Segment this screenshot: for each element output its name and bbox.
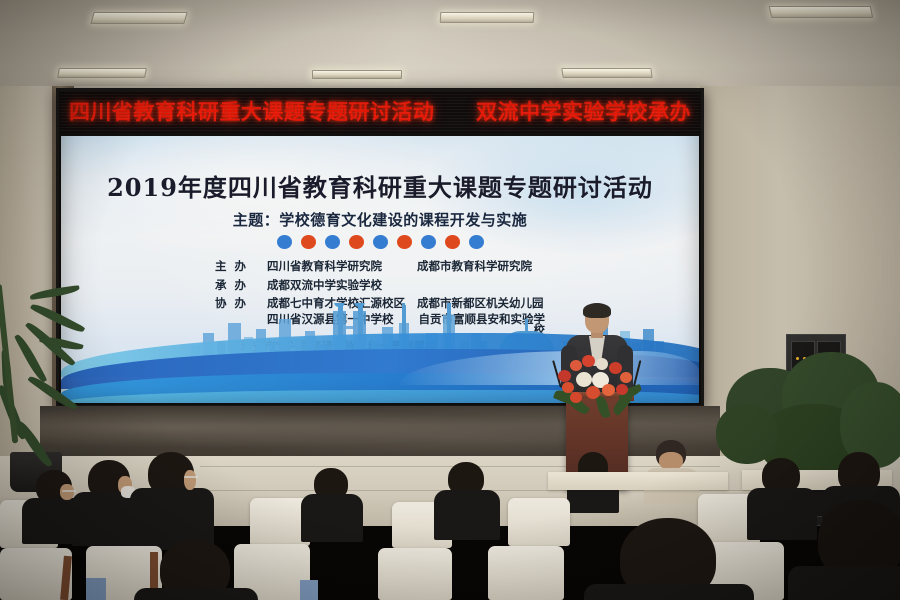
- slide-dot: [373, 235, 388, 249]
- ceiling-light-5: [312, 70, 402, 79]
- flower-bloom: [609, 362, 622, 374]
- slide-dot: [325, 235, 340, 249]
- flower-arrangement: [552, 352, 644, 414]
- organizer-label: 主 办: [215, 261, 267, 273]
- ceiling-light-6: [561, 68, 652, 78]
- chair-back-panel: [86, 578, 106, 600]
- flower-bloom: [562, 382, 574, 393]
- led-banner-right-text: 双流中学实验学校承办: [476, 100, 691, 124]
- flower-bloom: [558, 370, 571, 382]
- slide-dot: [397, 235, 412, 249]
- organizer-value: 成都市教育科学研究院: [417, 261, 545, 273]
- skyline-obelisk-tip: [402, 303, 405, 307]
- ceiling-light-4: [57, 68, 147, 78]
- skyline-twin-tower-left-cap: [334, 303, 345, 307]
- audience-chair: [508, 498, 570, 546]
- audience-table-far: [548, 472, 728, 490]
- rack-indicator-led: [796, 357, 799, 360]
- slide-title: 2019年度四川省教育科研重大课题专题研讨活动: [61, 168, 699, 203]
- slide-subtitle: 主题：学校德育文化建设的课程开发与实施: [61, 209, 699, 230]
- audience-chair: [378, 548, 452, 600]
- speaker-hair: [583, 303, 611, 318]
- audience-chair: [488, 546, 564, 600]
- led-banner-text: 四川省教育科研重大课题专题研讨活动 双流中学实验学校承办: [69, 96, 691, 126]
- led-banner-left-text: 四川省教育科研重大课题专题研讨活动: [69, 100, 435, 124]
- person-face-edge: [184, 470, 196, 490]
- skyline-twin-tower-right-cap: [354, 303, 365, 307]
- flower-bloom: [596, 358, 608, 370]
- organizer-row-host: 主 办 四川省教育科学研究院 成都市教育科学研究院: [215, 261, 545, 273]
- person-torso: [747, 488, 817, 540]
- flower-bloom: [582, 355, 595, 367]
- skyline-twin-tower-bridge: [346, 326, 354, 329]
- plant-foliage: [716, 404, 778, 464]
- person-torso: [788, 566, 900, 600]
- flower-bloom: [620, 372, 632, 383]
- conference-hall-scene: 四川省教育科研重大课题专题研讨活动 双流中学实验学校承办 2019年度四川省教育…: [0, 0, 900, 600]
- slide-dot: [349, 235, 364, 249]
- slide-dot-row: [61, 235, 699, 249]
- organizer-row-undertaker: 承 办 成都双流中学实验学校: [215, 280, 545, 292]
- person-face-edge: [60, 484, 74, 500]
- slide-dot: [469, 235, 484, 249]
- flower-bloom: [586, 386, 600, 399]
- ceiling-light-2: [440, 12, 535, 23]
- organizer-value: 四川省教育科学研究院: [267, 261, 417, 273]
- slide-dot: [301, 235, 316, 249]
- skyline-dome-spire: [525, 319, 528, 331]
- organizer-value: [417, 280, 545, 292]
- ceiling-light-3: [769, 6, 874, 18]
- flower-bloom: [616, 384, 628, 395]
- person-torso: [301, 494, 363, 542]
- ceiling-light-1: [90, 12, 187, 24]
- glasses-icon: [184, 476, 198, 478]
- person-torso: [434, 490, 500, 540]
- person-torso: [134, 588, 258, 600]
- led-banner: 四川省教育科研重大课题专题研讨活动 双流中学实验学校承办: [56, 88, 704, 133]
- organizer-value: 成都双流中学实验学校: [267, 280, 417, 292]
- glasses-icon: [62, 490, 76, 492]
- slide-dot: [277, 235, 292, 249]
- person-torso: [584, 584, 754, 600]
- flower-bloom: [602, 384, 615, 396]
- chair-back-panel: [300, 580, 318, 600]
- slide-dot: [421, 235, 436, 249]
- organizer-label: 承 办: [215, 280, 267, 292]
- flower-bloom: [570, 392, 582, 403]
- flower-bloom: [576, 372, 592, 387]
- flower-bloom: [570, 360, 582, 371]
- slide-dot: [445, 235, 460, 249]
